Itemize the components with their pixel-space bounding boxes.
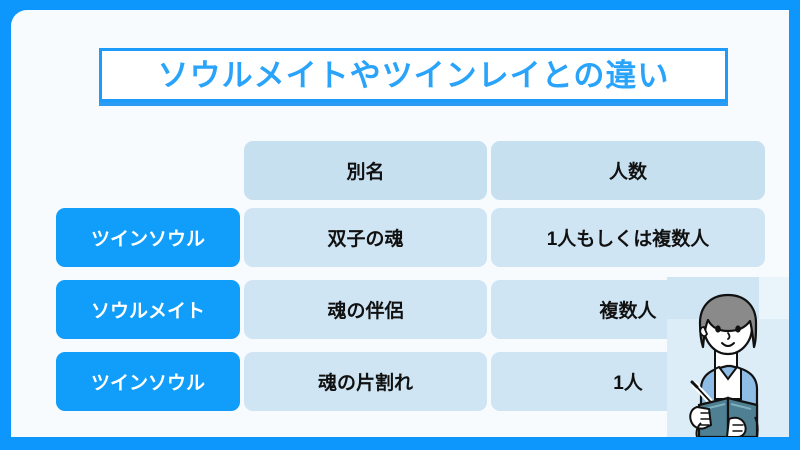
table-row: ツインソウル 双子の魂 1人もしくは複数人 [56, 208, 769, 267]
row-label-twinsoul-1: ツインソウル [56, 208, 240, 267]
row-alias-soulmate: 魂の伴侶 [244, 280, 487, 339]
table-header-count: 人数 [491, 141, 765, 200]
table-header-alias: 別名 [244, 141, 487, 200]
page-title: ソウルメイトやツインレイとの違い [158, 60, 670, 91]
row-count-twinsoul-1: 1人もしくは複数人 [491, 208, 765, 267]
slide-root: ソウルメイトやツインレイとの違い 別名 人数 ツインソウル 双子の魂 1人もしく… [0, 0, 800, 450]
comparison-table: 別名 人数 ツインソウル 双子の魂 1人もしくは複数人 ソウルメイト 魂の伴侶 … [56, 141, 769, 415]
row-count-soulmate: 複数人 [491, 280, 765, 339]
row-alias-twinsoul-2: 魂の片割れ [244, 352, 487, 411]
content-panel: ソウルメイトやツインレイとの違い 別名 人数 ツインソウル 双子の魂 1人もしく… [11, 10, 789, 437]
table-row: ソウルメイト 魂の伴侶 複数人 [56, 280, 769, 339]
title-box: ソウルメイトやツインレイとの違い [99, 48, 728, 102]
table-header-corner [56, 141, 240, 200]
table-header-row: 別名 人数 [56, 141, 769, 200]
row-label-soulmate: ソウルメイト [56, 280, 240, 339]
row-label-twinsoul-2: ツインソウル [56, 352, 240, 411]
row-alias-twinsoul-1: 双子の魂 [244, 208, 487, 267]
row-count-twinsoul-2: 1人 [491, 352, 765, 411]
table-row: ツインソウル 魂の片割れ 1人 [56, 352, 769, 411]
